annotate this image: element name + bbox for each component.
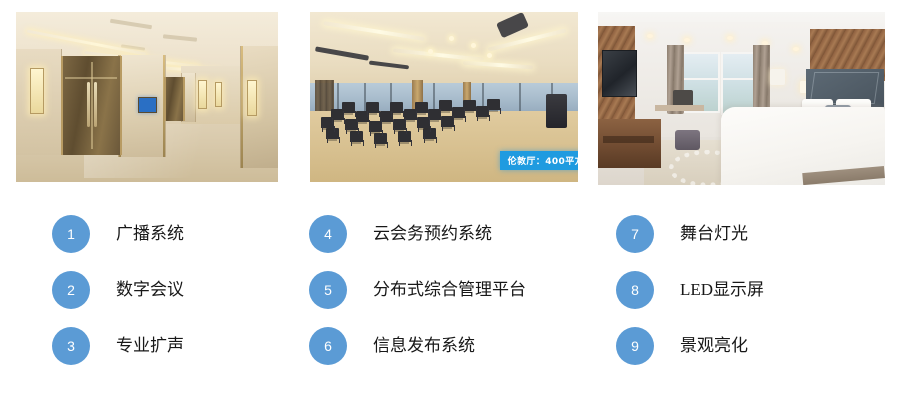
wall-sconce-light (198, 80, 207, 109)
feature-label: 分布式综合管理平台 (373, 280, 526, 300)
list-item[interactable]: 1 广播系统 (52, 206, 342, 262)
wall-sconce-light (30, 68, 44, 114)
feature-number-badge: 9 (616, 327, 654, 365)
chair (487, 99, 500, 110)
feature-label: 舞台灯光 (680, 224, 748, 244)
feature-label: 广播系统 (116, 224, 184, 244)
wall-sconce-light (247, 80, 258, 116)
chair (415, 102, 428, 113)
feature-list: 1 广播系统 2 数字会议 3 专业扩声 4 云会务预约系统 5 分布式综合管理… (0, 206, 900, 414)
downlight-icon (793, 47, 799, 51)
chair (439, 100, 452, 111)
loudspeaker (546, 94, 567, 128)
feature-number-badge: 7 (616, 215, 654, 253)
ottoman (675, 130, 699, 151)
list-item[interactable]: 7 舞台灯光 (616, 206, 900, 262)
chair (342, 102, 355, 113)
photo-conference-hall: 伦敦厅：400平方 (310, 12, 578, 182)
bed (721, 107, 885, 185)
photo-gallery: 伦敦厅：400平方 (0, 0, 900, 200)
photo-guest-room (598, 12, 885, 185)
hall-area-caption: 伦敦厅：400平方 (500, 151, 578, 170)
curtain (753, 45, 770, 114)
hall-ceiling (310, 12, 578, 87)
list-item[interactable]: 9 景观亮化 (616, 318, 900, 374)
feature-label: 景观亮化 (680, 336, 748, 356)
feature-number-badge: 3 (52, 327, 90, 365)
chair (390, 102, 403, 113)
feature-column-2: 4 云会务预约系统 5 分布式综合管理平台 6 信息发布系统 (309, 206, 599, 374)
feature-column-1: 1 广播系统 2 数字会议 3 专业扩声 (52, 206, 342, 374)
list-item[interactable]: 8 LED显示屏 (616, 262, 900, 318)
list-item[interactable]: 4 云会务预约系统 (309, 206, 599, 262)
bed-runner (802, 166, 885, 185)
wall-sconce-light (215, 82, 222, 108)
feature-label: 云会务预约系统 (373, 224, 492, 244)
television (602, 50, 637, 97)
floor-lamp (770, 69, 784, 85)
list-item[interactable]: 2 数字会议 (52, 262, 342, 318)
feature-number-badge: 4 (309, 215, 347, 253)
list-item[interactable]: 3 专业扩声 (52, 318, 342, 374)
feature-number-badge: 2 (52, 271, 90, 309)
tv-credenza (598, 119, 661, 167)
list-item[interactable]: 5 分布式综合管理平台 (309, 262, 599, 318)
chair (366, 102, 379, 113)
feature-number-badge: 8 (616, 271, 654, 309)
feature-column-3: 7 舞台灯光 8 LED显示屏 9 景观亮化 (616, 206, 900, 374)
chair (463, 100, 476, 111)
elevator-door (164, 77, 185, 121)
elevator-door (61, 56, 123, 155)
downlight-icon (487, 53, 492, 58)
feature-label: 信息发布系统 (373, 336, 475, 356)
feature-number-badge: 1 (52, 215, 90, 253)
feature-number-badge: 6 (309, 327, 347, 365)
list-item[interactable]: 6 信息发布系统 (309, 318, 599, 374)
downlight-icon (684, 38, 690, 42)
feature-label: LED显示屏 (680, 280, 764, 300)
feature-label: 数字会议 (116, 280, 184, 300)
writing-desk (655, 105, 704, 110)
photo-elevator-lobby (16, 12, 278, 182)
downlight-icon (471, 43, 476, 48)
feature-number-badge: 5 (309, 271, 347, 309)
wall-display-screen (138, 97, 157, 113)
feature-label: 专业扩声 (116, 336, 184, 356)
